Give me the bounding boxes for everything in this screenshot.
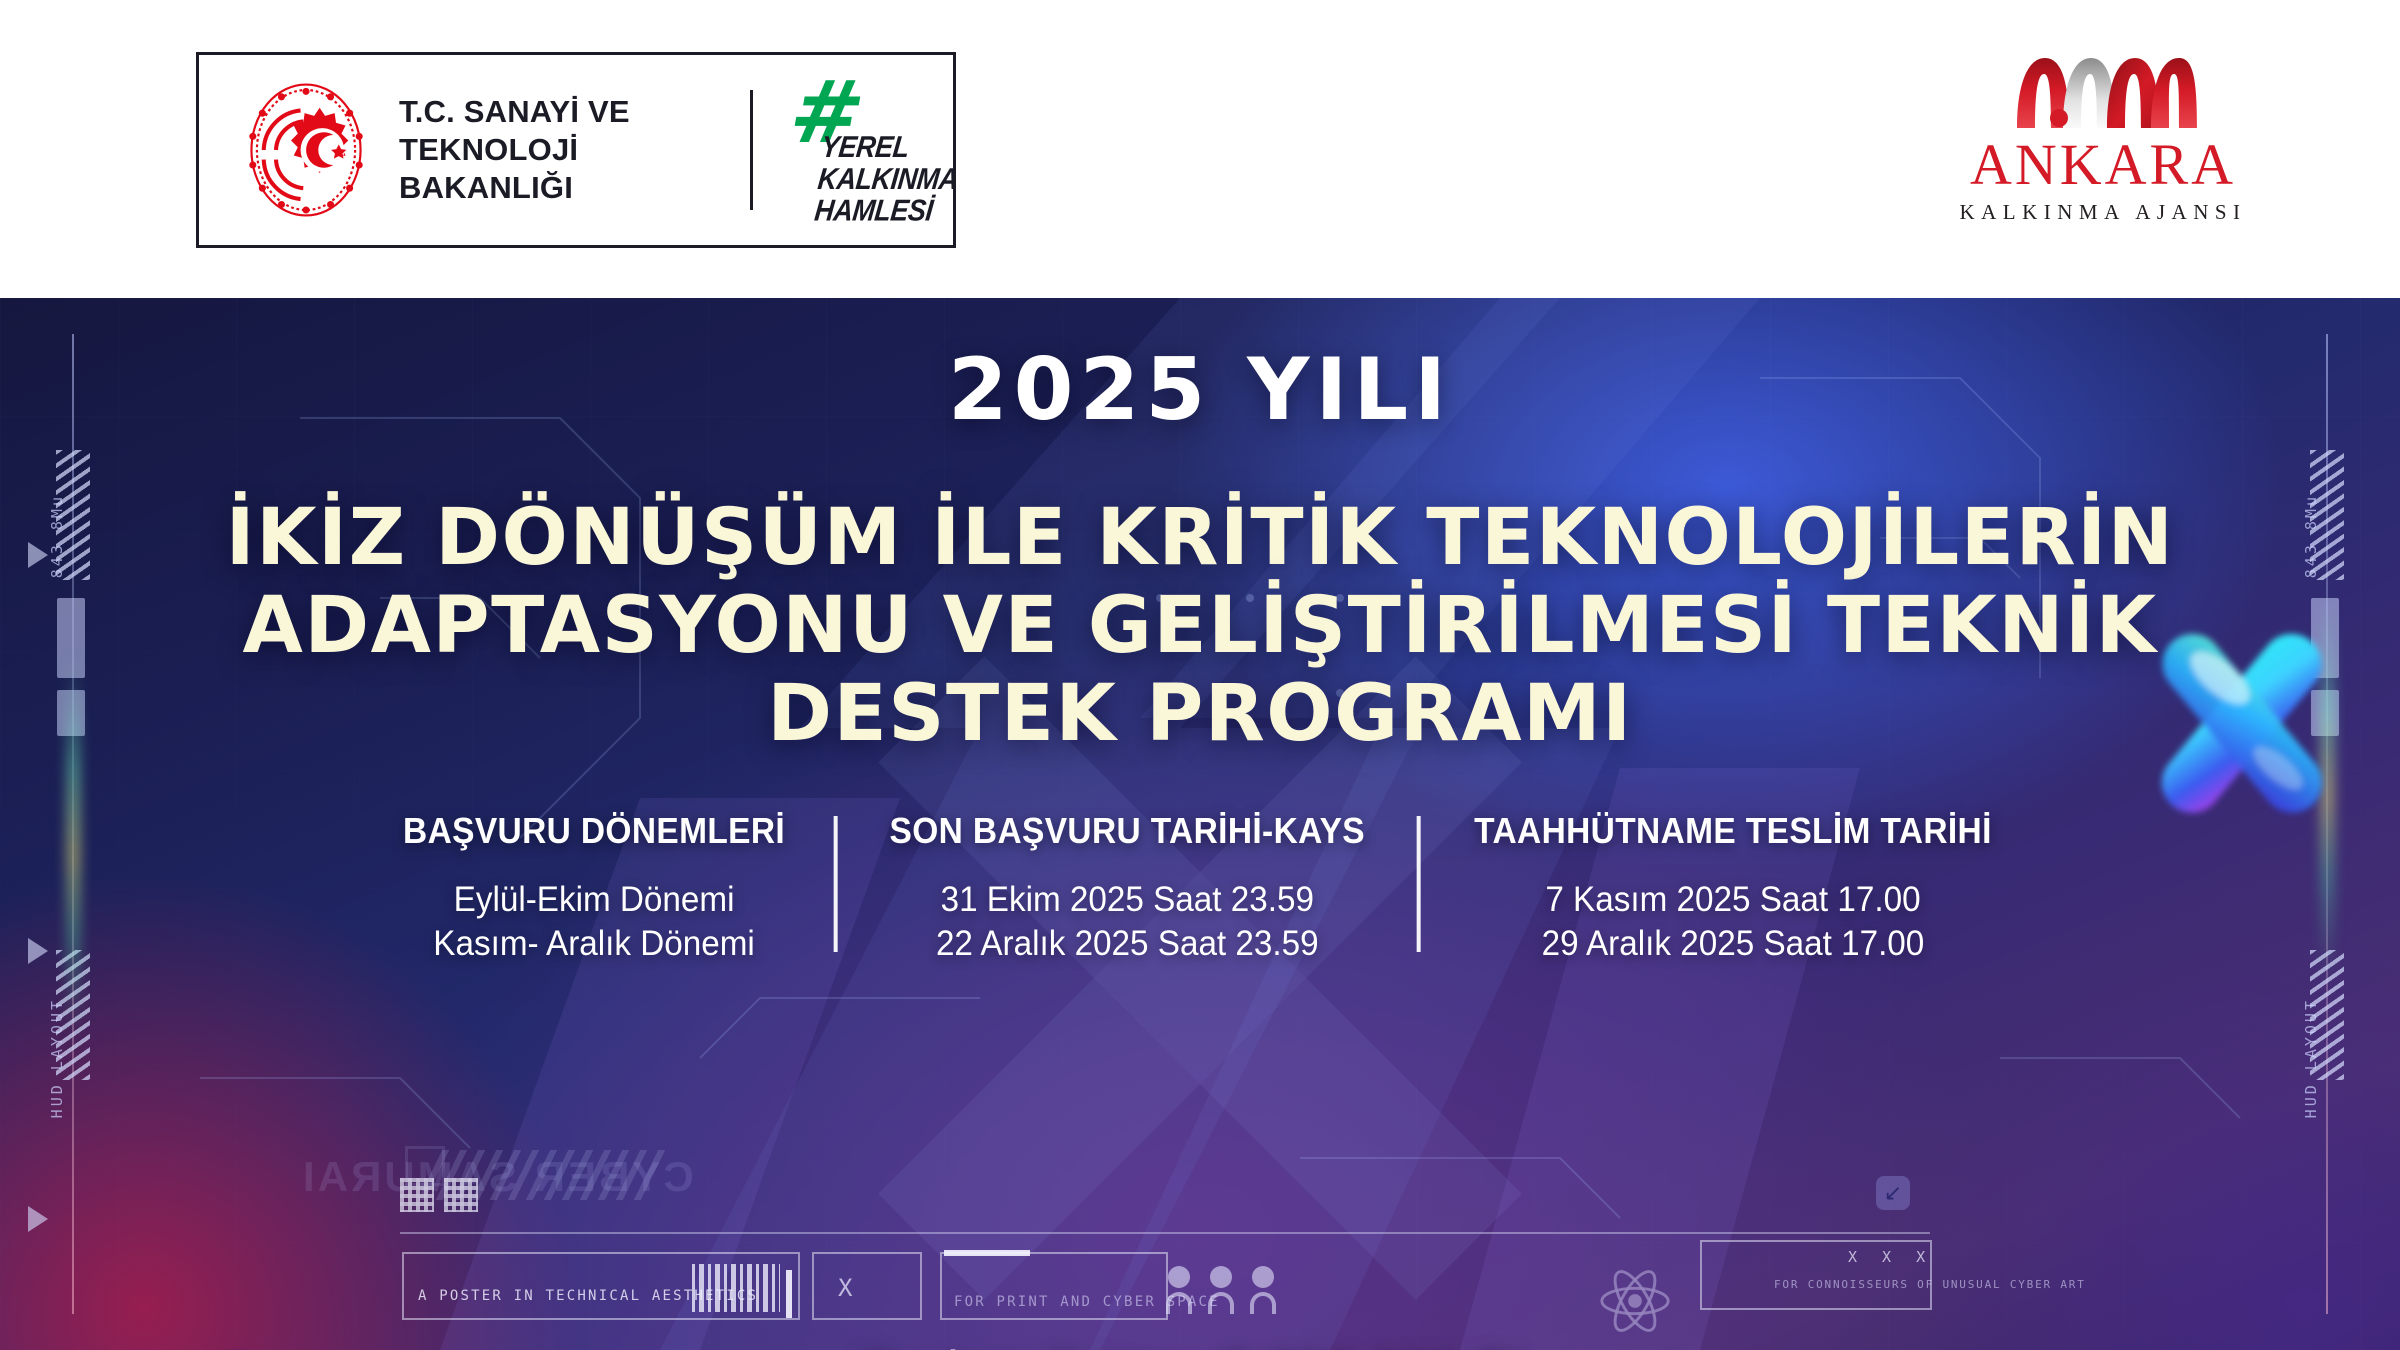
column-row: 7 Kasım 2025 Saat 17.00 [1469, 878, 1998, 922]
column-heading: SON BAŞVURU TARİHİ-KAYS [889, 810, 1364, 852]
barcode-icon [692, 1264, 780, 1312]
column-divider [1417, 816, 1421, 952]
collapse-arrow-button[interactable]: ↙ [1876, 1176, 1910, 1210]
title-line-2: ADAPTASYONU VE GELİŞTİRİLMESİ TEKNİK [0, 582, 2400, 670]
hero-stage: CYBER SAMURAI 843 8Mu HUD LAYOUT 843 8Mu… [0, 298, 2400, 1350]
ankara-development-agency-mark-icon [2003, 48, 2203, 132]
column-heading: TAAHHÜTNAME TESLİM TARİHİ [1474, 810, 1992, 852]
program-title: İKİZ DÖNÜŞÜM İLE KRİTİK TEKNOLOJİLERİN A… [0, 494, 2400, 758]
hud-top-rule [400, 1232, 1930, 1234]
person-icon [1250, 1266, 1276, 1314]
year-heading: 2025 YILI [0, 340, 2400, 440]
person-icon [1208, 1266, 1234, 1314]
title-line-1: İKİZ DÖNÜŞÜM İLE KRİTİK TEKNOLOJİLERİN [0, 494, 2400, 582]
connoisseur-tag-label: FOR CONNOISSEURS OF UNUSUAL CYBER ART [1774, 1278, 2086, 1291]
turkey-ministry-emblem-icon [237, 75, 375, 225]
ankara-logo-name: ANKARA [1938, 136, 2268, 194]
qr-glyph-2-icon [444, 1178, 478, 1212]
x-marker-frame [812, 1252, 922, 1320]
column-row: 29 Aralık 2025 Saat 17.00 [1469, 922, 1998, 966]
column-row: 31 Ekim 2025 Saat 23.59 [884, 878, 1370, 922]
people-group-icon [1166, 1266, 1276, 1314]
info-column-deadline-kays: SON BAŞVURU TARİHİ-KAYS 31 Ekim 2025 Saa… [837, 810, 1416, 966]
column-heading: BAŞVURU DÖNEMLERİ [403, 810, 785, 852]
person-icon [1166, 1266, 1192, 1314]
ankara-agency-logo: ANKARA KALKINMA AJANSI [1938, 48, 2268, 250]
yerel-kalkinma-hamlesi-logo: # YEREL KALKINMA HAMLESİ [787, 75, 953, 225]
ministry-logo-box: T.C. SANAYİ VE TEKNOLOJİ BAKANLIĞI # YER… [196, 52, 956, 248]
dates-info-grid: BAŞVURU DÖNEMLERİ Eylül-Ekim Dönemi Kası… [355, 810, 2046, 966]
arrow-down-left-icon: ↙ [1884, 1181, 1902, 1206]
barcode-end-bar-icon [786, 1270, 792, 1318]
info-column-application-periods: BAŞVURU DÖNEMLERİ Eylül-Ekim Dönemi Kası… [355, 810, 834, 966]
atom-icon [1596, 1262, 1674, 1340]
print-tag-accent-bar [944, 1250, 1030, 1256]
bottom-hud-strip: ↙ A POSTER IN TECHNICAL AESTHETICS X FOR… [0, 1170, 2400, 1350]
column-row: Kasım- Aralık Dönemi [399, 922, 789, 966]
x-marker-label: X [838, 1274, 852, 1302]
logo-divider [750, 90, 753, 210]
column-row: Eylül-Ekim Dönemi [399, 878, 789, 922]
poster-canvas: T.C. SANAYİ VE TEKNOLOJİ BAKANLIĞI # YER… [0, 0, 2400, 1350]
column-row: 22 Aralık 2025 Saat 23.59 [884, 922, 1370, 966]
x-triple-label: X X X [1848, 1248, 1933, 1266]
ministry-logo-text: T.C. SANAYİ VE TEKNOLOJİ BAKANLIĞI [399, 93, 716, 206]
title-line-3: DESTEK PROGRAMI [0, 670, 2400, 758]
column-divider [833, 816, 837, 952]
hashtag-logo-text: YEREL KALKINMA HAMLESİ [813, 131, 963, 227]
header-bar: T.C. SANAYİ VE TEKNOLOJİ BAKANLIĞI # YER… [0, 0, 2400, 298]
info-column-commitment-delivery: TAAHHÜTNAME TESLİM TARİHİ 7 Kasım 2025 S… [1421, 810, 2046, 966]
qr-glyph-1-icon [400, 1178, 434, 1212]
ankara-logo-subtitle: KALKINMA AJANSI [1938, 200, 2268, 225]
